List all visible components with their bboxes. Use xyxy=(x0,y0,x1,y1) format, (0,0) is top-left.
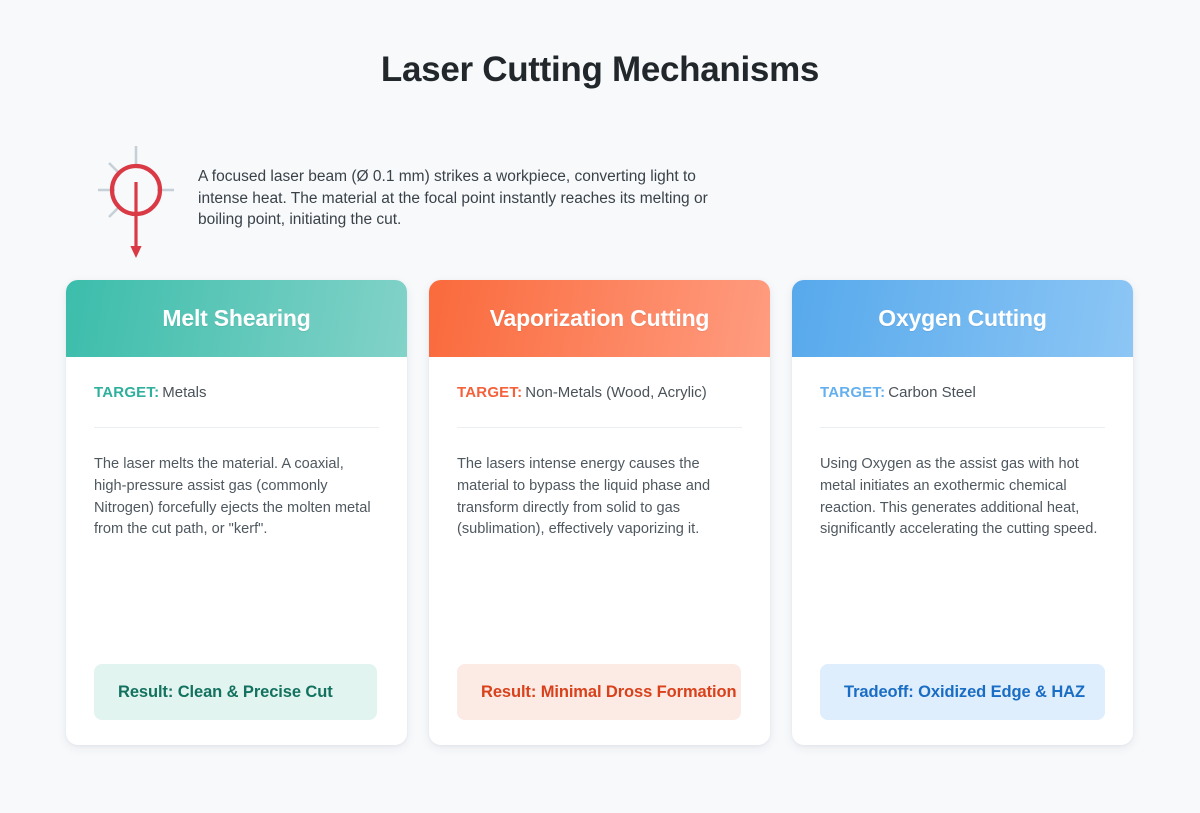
target-label: TARGET: xyxy=(457,384,522,401)
intro-block: A focused laser beam (Ø 0.1 mm) strikes … xyxy=(88,140,808,260)
divider xyxy=(820,427,1105,428)
target-row: TARGET:Carbon Steel xyxy=(820,384,1105,401)
card-body: TARGET:Metals The laser melts the materi… xyxy=(66,357,407,745)
card-oxygen-cutting[interactable]: Oxygen Cutting TARGET:Carbon Steel Using… xyxy=(792,280,1133,745)
card-body: TARGET:Carbon Steel Using Oxygen as the … xyxy=(792,357,1133,745)
target-row: TARGET:Non-Metals (Wood, Acrylic) xyxy=(457,384,742,401)
card-title: Melt Shearing xyxy=(162,305,310,332)
result-badge-text: Result: Clean & Precise Cut xyxy=(118,683,333,702)
card-title: Oxygen Cutting xyxy=(878,305,1046,332)
infographic-page: Laser Cutting Mechanisms A focused laser… xyxy=(0,0,1200,813)
card-header: Melt Shearing xyxy=(66,280,407,357)
card-title: Vaporization Cutting xyxy=(490,305,710,332)
laser-beam-focus-icon xyxy=(88,142,184,260)
card-description: Using Oxygen as the assist gas with hot … xyxy=(820,454,1105,541)
result-badge-text: Result: Minimal Dross Formation xyxy=(481,683,736,702)
target-label: TARGET: xyxy=(94,384,159,401)
card-body: TARGET:Non-Metals (Wood, Acrylic) The la… xyxy=(429,357,770,745)
result-badge: Tradeoff: Oxidized Edge & HAZ xyxy=(820,664,1105,720)
target-value: Carbon Steel xyxy=(888,384,976,401)
target-label: TARGET: xyxy=(820,384,885,401)
page-title: Laser Cutting Mechanisms xyxy=(0,50,1200,90)
divider xyxy=(94,427,379,428)
result-badge-text: Tradeoff: Oxidized Edge & HAZ xyxy=(844,683,1085,702)
card-description: The laser melts the material. A coaxial,… xyxy=(94,454,379,541)
card-header: Vaporization Cutting xyxy=(429,280,770,357)
mechanism-cards: Melt Shearing TARGET:Metals The laser me… xyxy=(66,280,1134,745)
target-value: Metals xyxy=(162,384,206,401)
card-description: The lasers intense energy causes the mat… xyxy=(457,454,742,541)
card-vaporization-cutting[interactable]: Vaporization Cutting TARGET:Non-Metals (… xyxy=(429,280,770,745)
target-row: TARGET:Metals xyxy=(94,384,379,401)
result-badge: Result: Minimal Dross Formation xyxy=(457,664,741,720)
card-melt-shearing[interactable]: Melt Shearing TARGET:Metals The laser me… xyxy=(66,280,407,745)
intro-text: A focused laser beam (Ø 0.1 mm) strikes … xyxy=(198,166,723,231)
card-header: Oxygen Cutting xyxy=(792,280,1133,357)
target-value: Non-Metals (Wood, Acrylic) xyxy=(525,384,706,401)
divider xyxy=(457,427,742,428)
result-badge: Result: Clean & Precise Cut xyxy=(94,664,377,720)
